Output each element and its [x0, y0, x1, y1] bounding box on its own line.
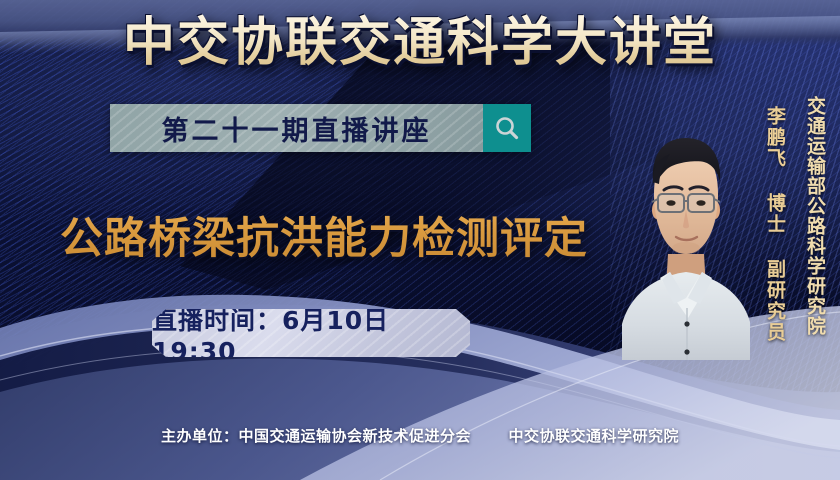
- seminar-topic: 公路桥梁抗洪能力检测评定: [24, 204, 624, 266]
- speaker-name-title: 李鹏飞 博士 副研究员: [765, 106, 784, 343]
- organizer-footer: 主办单位：中国交通运输协会新技术促进分会 中交协联交通科学研究院: [0, 425, 840, 446]
- session-label: 第二十一期直播讲座: [110, 104, 483, 152]
- search-icon: [493, 114, 521, 142]
- live-time-badge: 直播时间：6月10日19:30: [152, 309, 470, 357]
- live-seminar-poster: 交通运输部公路科学研究院 李鹏飞 博士 副研究员 中交协联交通科学大讲堂 第二十…: [0, 0, 840, 480]
- organizer-primary: 主办单位：中国交通运输协会新技术促进分会: [161, 427, 471, 445]
- session-bar: 第二十一期直播讲座: [110, 104, 531, 152]
- page-title: 中交协联交通科学大讲堂: [0, 14, 840, 74]
- organizer-secondary: 中交协联交通科学研究院: [508, 427, 679, 445]
- speaker-organization: 交通运输部公路科学研究院: [805, 96, 824, 336]
- search-button[interactable]: [483, 104, 531, 152]
- speaker-portrait: [612, 112, 760, 360]
